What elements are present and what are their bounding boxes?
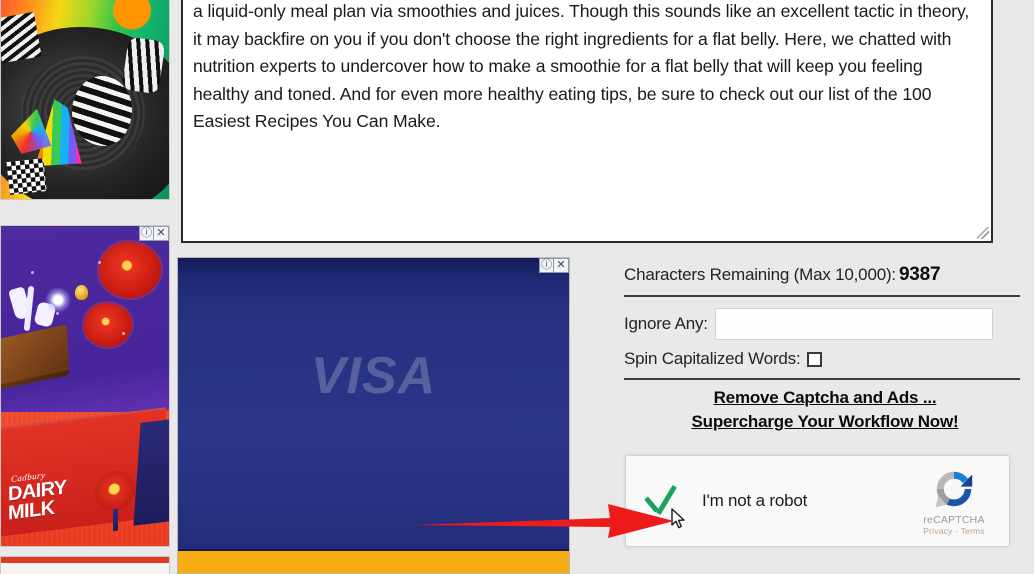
abstract-stripe-right	[122, 37, 166, 95]
left-ad-column: Cadbury DAIRY MILK ⓘ ✕	[0, 0, 172, 574]
recaptcha-privacy-link[interactable]: Privacy	[923, 526, 952, 536]
recaptcha-terms-link[interactable]: Terms	[961, 526, 985, 536]
adchoices-info-icon[interactable]: ⓘ	[539, 258, 554, 273]
dairy-pack-side	[133, 419, 170, 527]
dairy-wordmark: DAIRY MILK	[8, 478, 67, 524]
ignore-any-label: Ignore Any:	[624, 314, 708, 334]
adchoices-dairy[interactable]: ⓘ ✕	[139, 226, 169, 241]
recaptcha-logo-icon	[931, 466, 977, 512]
visa-top-shade	[178, 258, 569, 276]
dairy-flower-small	[84, 303, 132, 347]
recaptcha-legal-separator: -	[955, 526, 958, 536]
controls-panel: Characters Remaining (Max 10,000):9387 I…	[616, 256, 1034, 574]
recaptcha-label[interactable]: I'm not a robot	[702, 491, 807, 511]
ad-bottom-red-strip	[1, 557, 169, 563]
ad-bottom-partial[interactable]	[0, 556, 170, 574]
recaptcha-legal-links: Privacy - Terms	[911, 526, 997, 536]
visa-background	[178, 258, 569, 573]
divider-top	[624, 295, 1020, 297]
dairy-flower-large	[99, 242, 161, 298]
adchoices-info-icon[interactable]: ⓘ	[139, 226, 154, 241]
spin-capitalized-row: Spin Capitalized Words:	[624, 349, 822, 369]
ad-dairy-milk[interactable]: Cadbury DAIRY MILK ⓘ ✕	[0, 225, 170, 547]
adchoices-visa[interactable]: ⓘ ✕	[539, 258, 569, 273]
textarea-resize-grip[interactable]	[977, 227, 989, 239]
abstract-checker-patch	[6, 158, 46, 194]
ignore-any-row: Ignore Any:	[624, 308, 993, 340]
supercharge-workflow-link[interactable]: Supercharge Your Workflow Now!	[616, 412, 1034, 432]
check-icon	[642, 482, 680, 520]
spin-capitalized-checkbox[interactable]	[807, 352, 822, 367]
ad-abstract-creative[interactable]	[0, 0, 170, 200]
page-root: Cadbury DAIRY MILK ⓘ ✕ a liquid-only mea…	[0, 0, 1034, 574]
article-textarea[interactable]: a liquid-only meal plan via smoothies an…	[181, 0, 993, 243]
visa-wordmark: VISA	[178, 346, 569, 406]
article-text[interactable]: a liquid-only meal plan via smoothies an…	[183, 0, 991, 136]
ad-visa[interactable]: VISA ⓘ ✕	[177, 257, 570, 574]
dairy-light-glow	[45, 287, 71, 313]
dairy-gold-bell	[75, 285, 88, 300]
adchoices-close-icon[interactable]: ✕	[554, 258, 569, 273]
characters-remaining-count: 9387	[899, 264, 940, 285]
recaptcha-branding: reCAPTCHA Privacy - Terms	[911, 466, 997, 536]
abstract-zigzag-ball	[72, 76, 132, 146]
ignore-any-input[interactable]	[715, 308, 993, 340]
adchoices-close-icon[interactable]: ✕	[154, 226, 169, 241]
characters-remaining: Characters Remaining (Max 10,000):9387	[624, 264, 940, 286]
characters-remaining-label: Characters Remaining (Max 10,000):	[624, 265, 896, 284]
recaptcha-checkbox[interactable]	[626, 456, 686, 546]
recaptcha-widget[interactable]: I'm not a robot reCAPTCHA Privacy	[625, 455, 1010, 547]
divider-bottom	[624, 378, 1020, 380]
abstract-stripe-left	[0, 11, 42, 62]
promo-links: Remove Captcha and Ads ... Supercharge Y…	[616, 388, 1034, 436]
remove-captcha-link[interactable]: Remove Captcha and Ads ...	[616, 388, 1034, 408]
visa-gold-bar	[178, 549, 569, 573]
spin-capitalized-label: Spin Capitalized Words:	[624, 349, 801, 369]
recaptcha-brand-name: reCAPTCHA	[911, 514, 997, 526]
